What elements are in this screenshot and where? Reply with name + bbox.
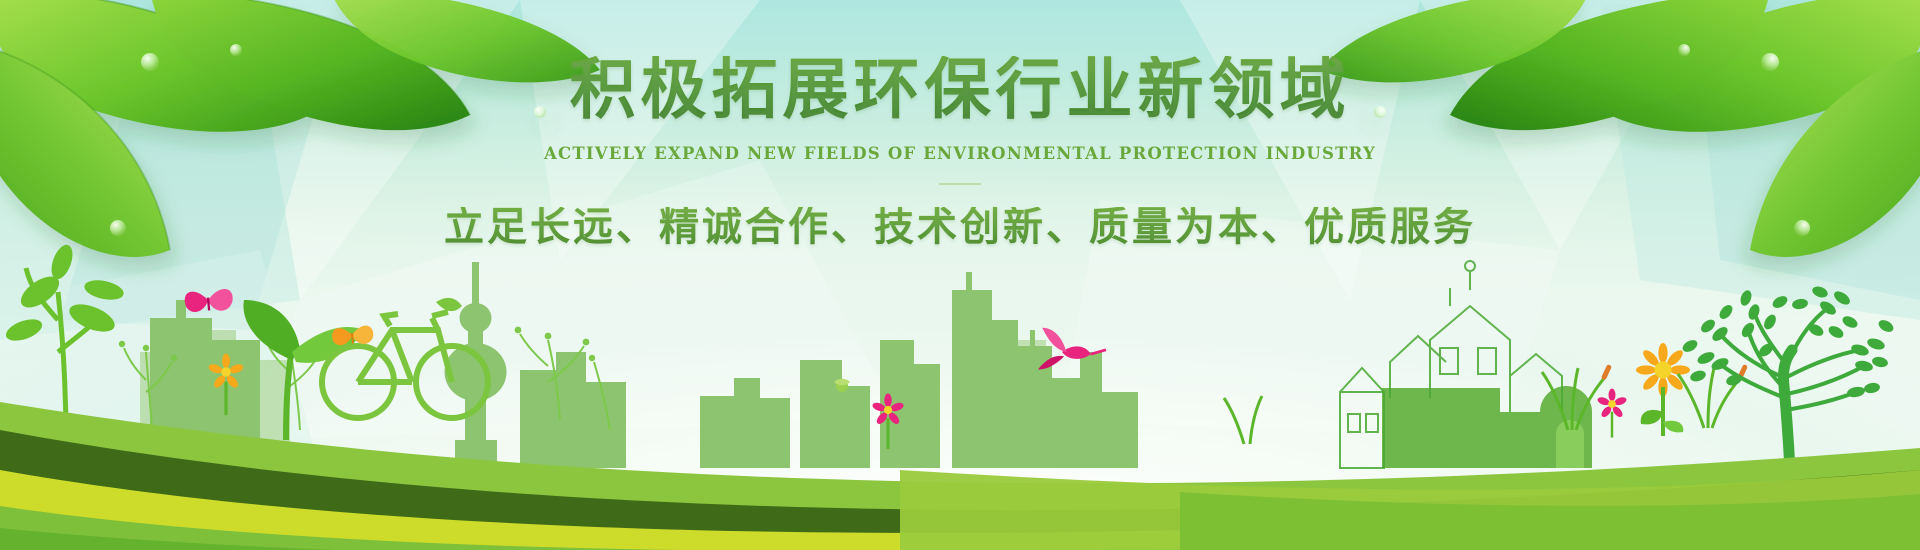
- page-title: 积极拓展环保行业新领域: [0, 56, 1920, 122]
- banner-text-block: 积极拓展环保行业新领域 ACTIVELY EXPAND NEW FIELDS O…: [0, 0, 1920, 247]
- tagline: 立足长远、精诚合作、技术创新、质量为本、优质服务: [0, 207, 1920, 247]
- eco-banner: 积极拓展环保行业新领域 ACTIVELY EXPAND NEW FIELDS O…: [0, 0, 1920, 550]
- subtitle-english: ACTIVELY EXPAND NEW FIELDS OF ENVIRONMEN…: [0, 144, 1920, 163]
- divider: [939, 183, 981, 185]
